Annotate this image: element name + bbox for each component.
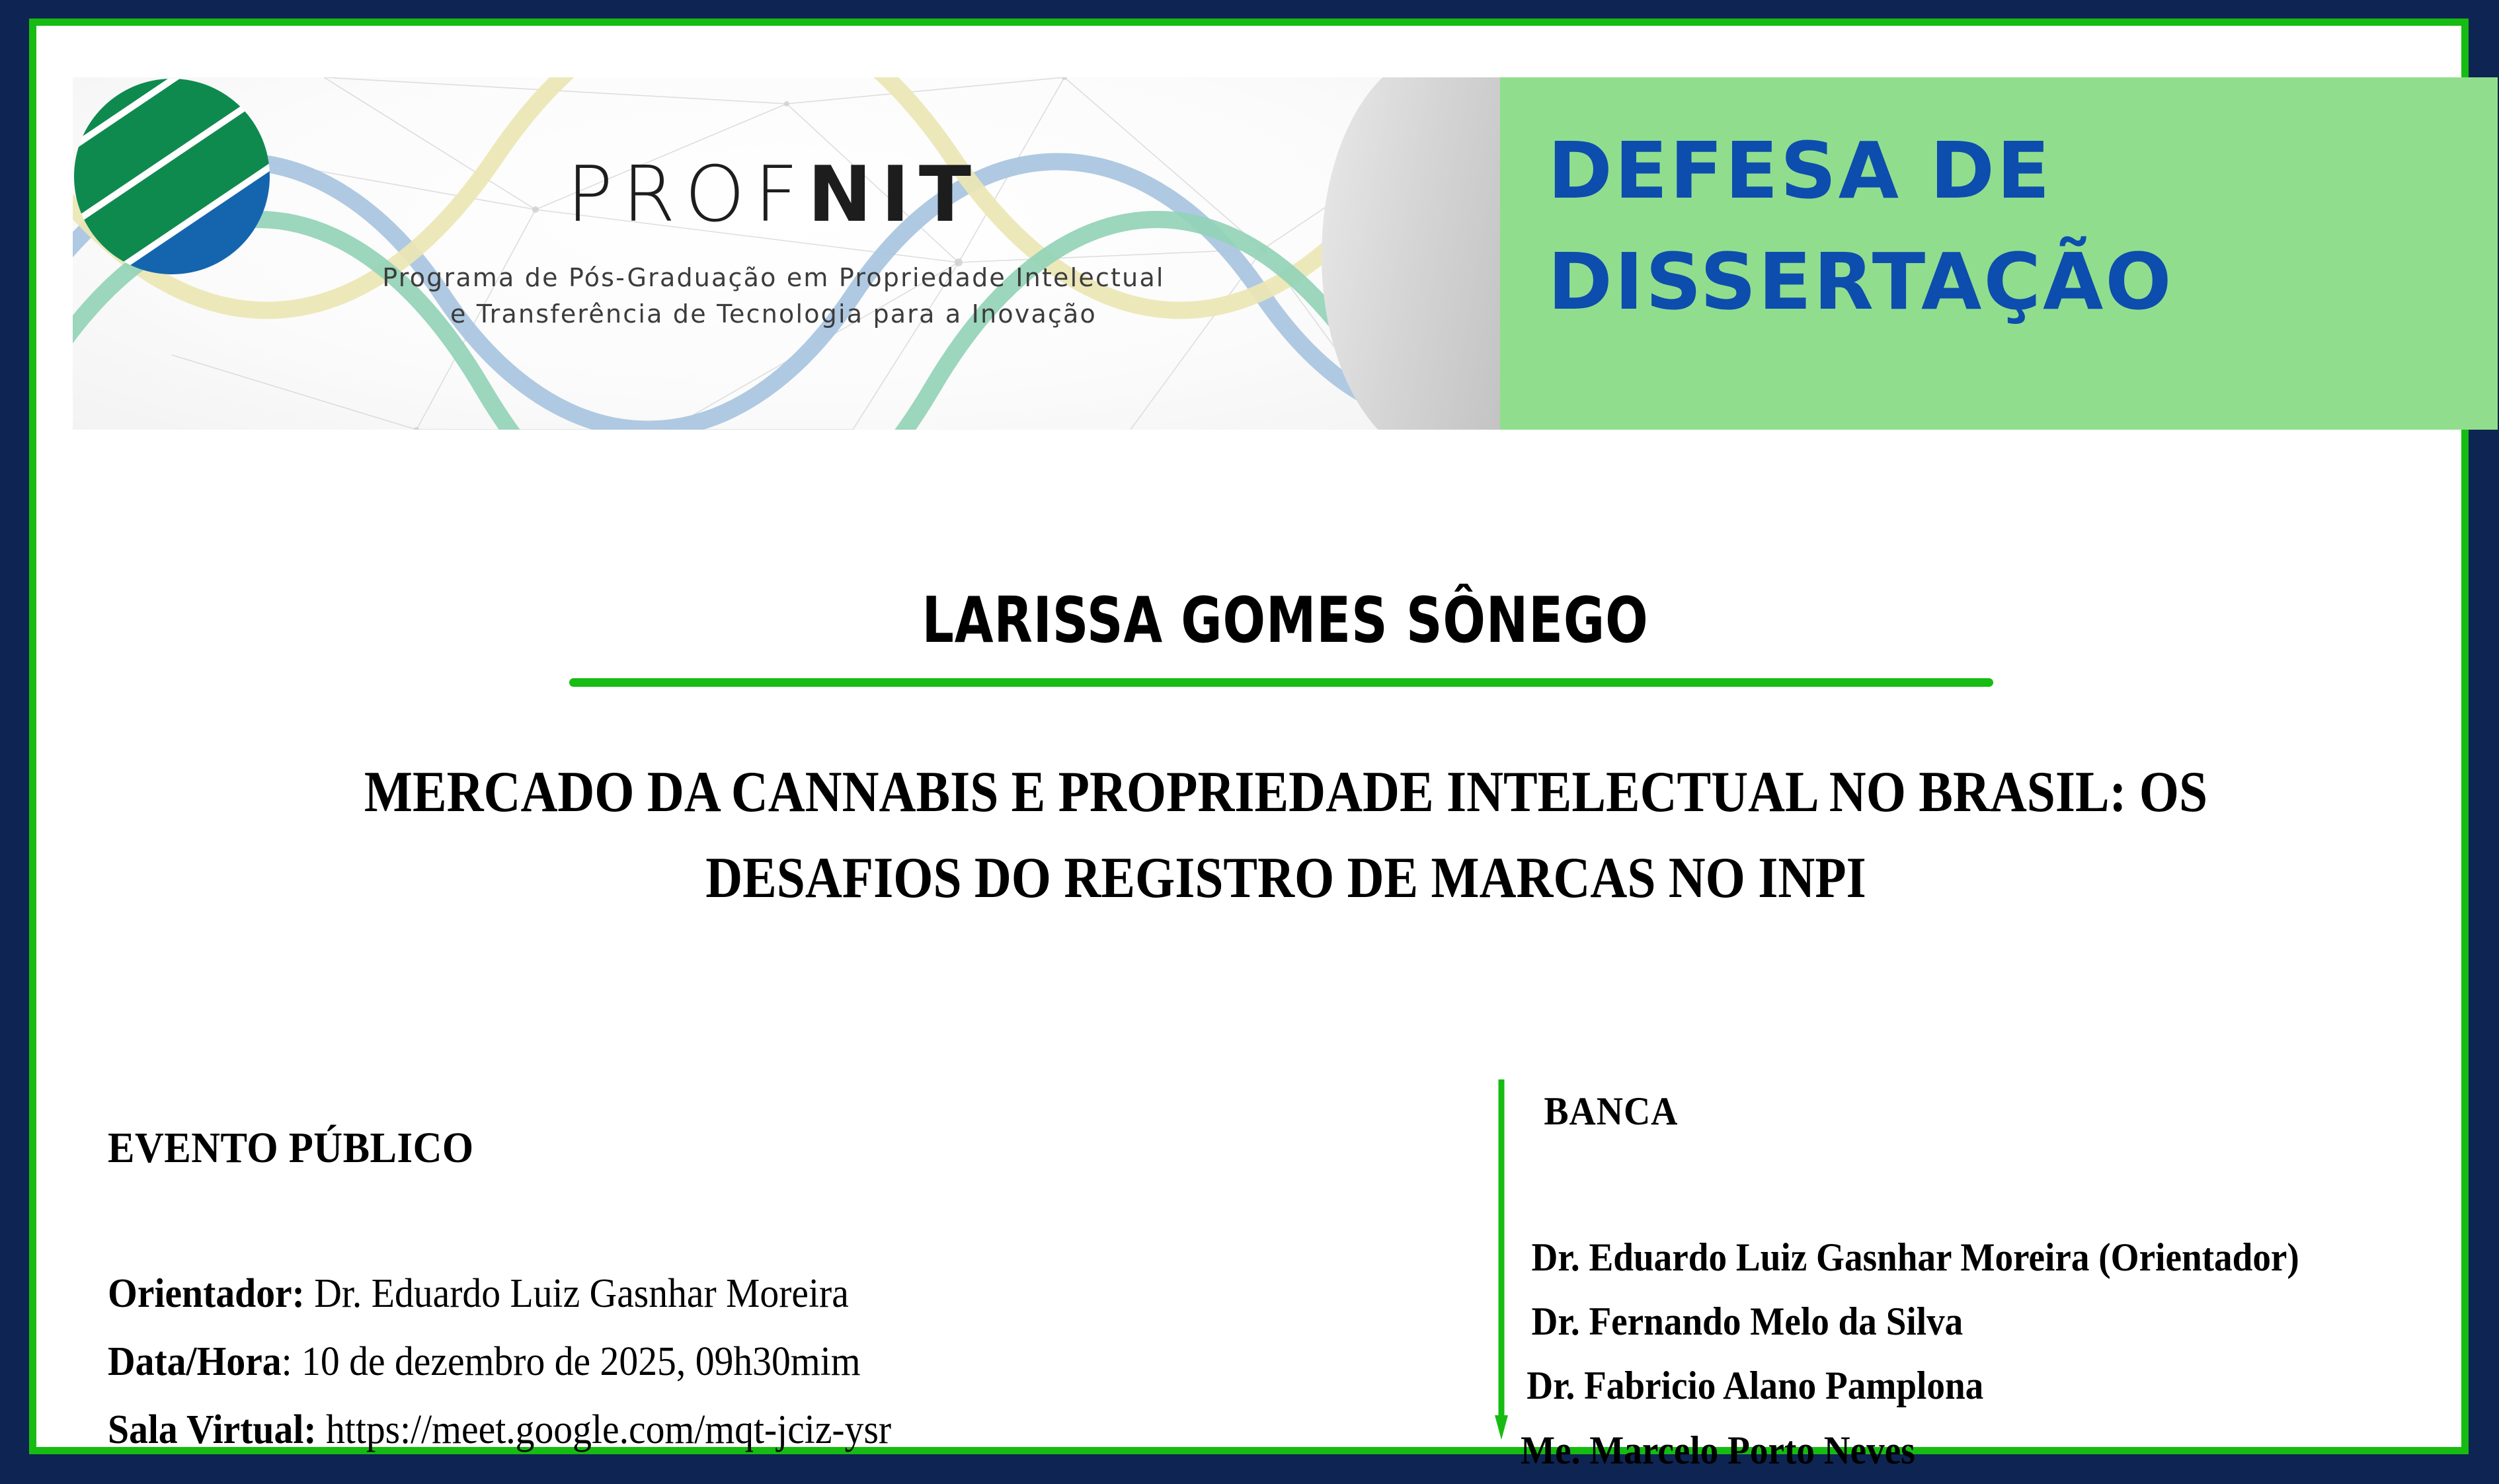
committee-member: Dr. Fernando Melo da Silva: [1521, 1290, 2384, 1354]
profnit-logo-suffix: NIT: [808, 150, 980, 239]
thesis-title: MERCADO DA CANNABIS E PROPRIEDADE INTELE…: [256, 750, 2315, 921]
event-detail-list: Orientador: Dr. Eduardo Luiz Gasnhar Mor…: [108, 1260, 1364, 1464]
profnit-banner-artwork: PROFNIT Programa de Pós-Graduação em Pro…: [73, 77, 1500, 430]
detail-label-virtual-room: Sala Virtual:: [108, 1407, 317, 1452]
committee-member: Dr. Eduardo Luiz Gasnhar Moreira (Orient…: [1521, 1226, 2384, 1290]
detail-row-virtual-room: Sala Virtual: https://meet.google.com/mq…: [108, 1396, 1276, 1464]
profnit-logo-prefix: PROF: [567, 150, 808, 239]
profnit-logo-wordmark: PROFNIT: [337, 157, 1210, 233]
committee-member: Dr. Fabricio Alano Pamplona: [1521, 1354, 2384, 1418]
committee-column: BANCA Dr. Eduardo Luiz Gasnhar Moreira (…: [1521, 1091, 2459, 1483]
profnit-tagline-line-1: Programa de Pós-Graduação em Propriedade…: [337, 260, 1210, 296]
committee-member: Me. Marcelo Porto Neves: [1521, 1419, 2384, 1483]
detail-label-advisor: Orientador:: [108, 1271, 305, 1316]
defesa-header-box: DEFESA DE DISSERTAÇÃO: [1500, 77, 2498, 430]
defesa-header-line-2: DISSERTAÇÃO: [1548, 227, 2498, 338]
detail-label-datetime: Data/Hora: [108, 1339, 282, 1384]
committee-member-list: Dr. Eduardo Luiz Gasnhar Moreira (Orient…: [1521, 1226, 2459, 1483]
defesa-header-line-1: DEFESA DE: [1548, 116, 2498, 227]
grey-blob-decoration: [1322, 77, 1500, 430]
poster-root: PROFNIT Programa de Pós-Graduação em Pro…: [0, 0, 2499, 1484]
banner-row: PROFNIT Programa de Pós-Graduação em Pro…: [73, 77, 2498, 430]
detail-row-advisor: Orientador: Dr. Eduardo Luiz Gasnhar Mor…: [108, 1260, 1276, 1328]
detail-value-virtual-room-link[interactable]: https://meet.google.com/mqt-jciz-ysr: [317, 1407, 892, 1452]
detail-value-advisor: Dr. Eduardo Luiz Gasnhar Moreira: [305, 1271, 849, 1316]
event-public-heading: EVENTO PÚBLICO: [108, 1126, 1263, 1170]
profnit-tagline: Programa de Pós-Graduação em Propriedade…: [337, 260, 1210, 332]
poster-inner-frame: PROFNIT Programa de Pós-Graduação em Pro…: [29, 19, 2469, 1454]
down-arrow-icon: [1495, 1079, 1519, 1440]
student-name-underline: [569, 678, 1993, 687]
committee-heading: BANCA: [1521, 1091, 2394, 1131]
student-name: LARISSA GOMES SÔNEGO: [315, 584, 2255, 657]
detail-value-datetime: : 10 de dezembro de 2025, 09h30mim: [282, 1339, 861, 1384]
event-info-column: EVENTO PÚBLICO Orientador: Dr. Eduardo L…: [108, 1126, 1364, 1464]
profnit-logo: PROFNIT Programa de Pós-Graduação em Pro…: [337, 157, 1210, 332]
profnit-tagline-line-2: e Transferência de Tecnologia para a Ino…: [337, 296, 1210, 332]
detail-row-datetime: Data/Hora: 10 de dezembro de 2025, 09h30…: [108, 1328, 1276, 1396]
brazil-globe-emblem-icon: [73, 77, 271, 276]
